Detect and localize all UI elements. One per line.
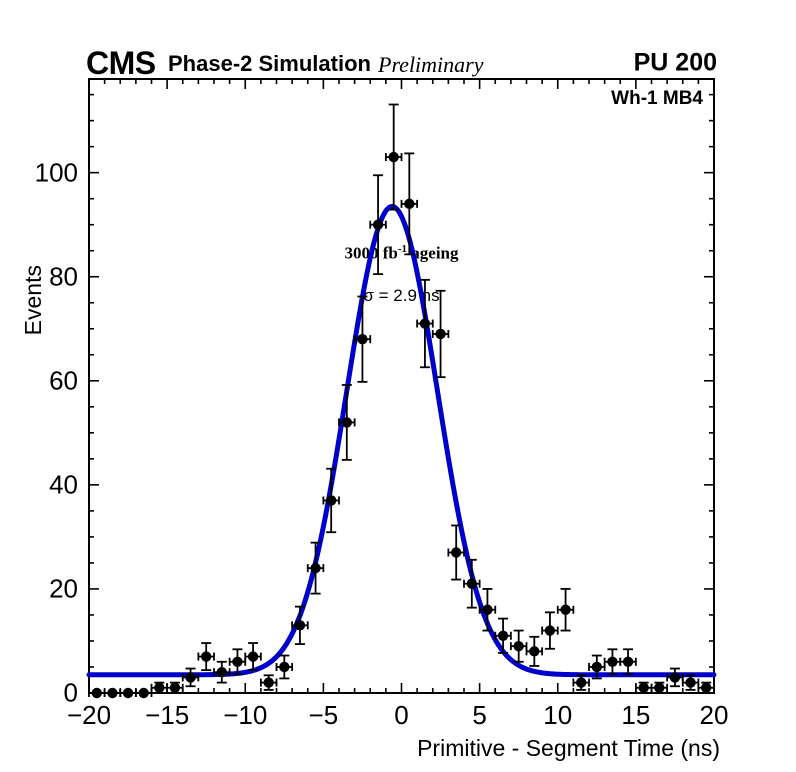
data-point (467, 579, 477, 589)
x-tick-label: −10 (223, 700, 267, 731)
x-tick-label: −5 (309, 700, 339, 731)
data-point (373, 219, 383, 229)
data-point (513, 641, 523, 651)
data-point (670, 672, 680, 682)
data-point (420, 318, 430, 328)
y-tick-label: 20 (49, 573, 78, 604)
y-tick-label: 40 (49, 469, 78, 500)
plot-canvas: CMS Phase-2 Simulation Preliminary PU 20… (0, 0, 796, 772)
data-point (685, 677, 695, 687)
data-point (279, 662, 289, 672)
data-point (123, 688, 133, 698)
x-tick-label: 20 (700, 700, 729, 731)
data-point (607, 657, 617, 667)
data-point (248, 651, 258, 661)
data-point (654, 683, 664, 693)
data-point (701, 683, 711, 693)
plot-graphics (0, 0, 796, 772)
data-point (404, 199, 414, 209)
x-tick-label: 10 (543, 700, 572, 731)
data-point (357, 334, 367, 344)
data-point (342, 417, 352, 427)
x-tick-label: 5 (472, 700, 486, 731)
data-point (201, 651, 211, 661)
data-point (545, 625, 555, 635)
data-point (263, 677, 273, 687)
data-point (170, 683, 180, 693)
data-point (482, 605, 492, 615)
data-point (435, 329, 445, 339)
x-tick-label: 0 (394, 700, 408, 731)
data-point (107, 688, 117, 698)
data-point (310, 563, 320, 573)
error-bars (89, 104, 714, 697)
y-tick-label: 0 (64, 678, 78, 709)
data-point (295, 620, 305, 630)
data-markers (92, 152, 712, 698)
data-point (498, 631, 508, 641)
gaussian-fit-curve (89, 207, 714, 675)
axis-ticks (89, 79, 714, 693)
y-tick-label: 100 (35, 157, 78, 188)
data-point (560, 605, 570, 615)
data-point (92, 688, 102, 698)
data-point (623, 657, 633, 667)
data-point (138, 688, 148, 698)
data-point (185, 672, 195, 682)
y-tick-label: 80 (49, 261, 78, 292)
data-point (232, 657, 242, 667)
data-point (638, 683, 648, 693)
data-point (154, 683, 164, 693)
data-point (451, 547, 461, 557)
data-point (217, 667, 227, 677)
data-point (529, 646, 539, 656)
x-tick-label: −15 (145, 700, 189, 731)
data-point (326, 495, 336, 505)
x-tick-label: 15 (621, 700, 650, 731)
y-tick-label: 60 (49, 365, 78, 396)
data-point (388, 152, 398, 162)
data-point (576, 677, 586, 687)
data-point (592, 662, 602, 672)
